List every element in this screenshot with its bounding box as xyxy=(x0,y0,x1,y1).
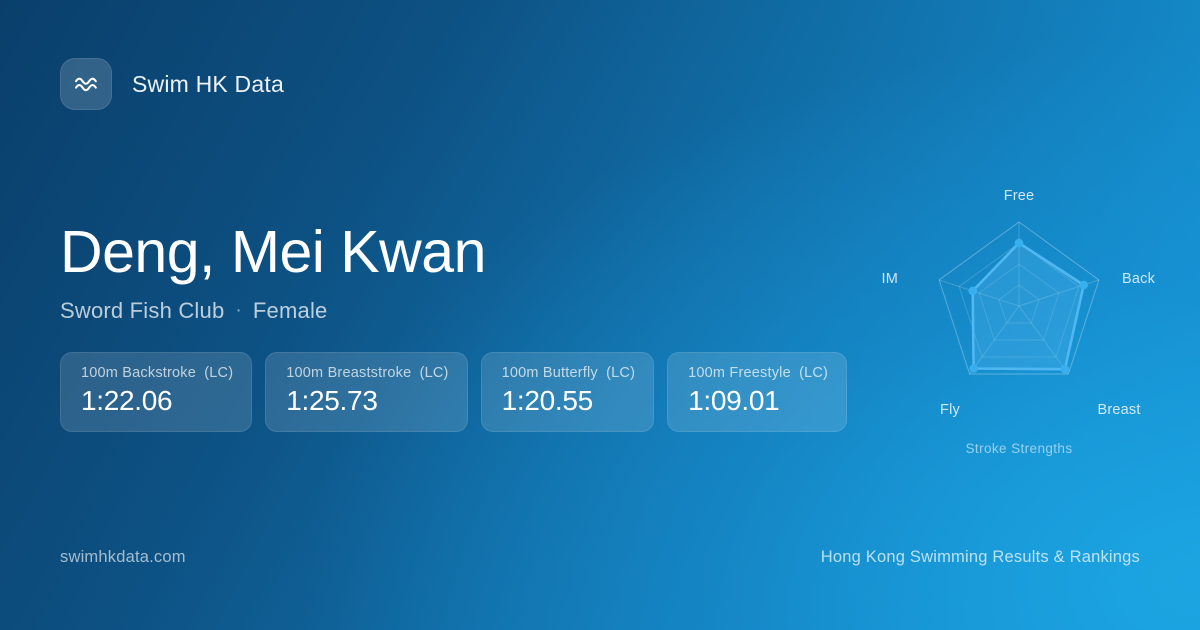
radar-point-fly xyxy=(969,364,978,373)
footer-tagline: Hong Kong Swimming Results & Rankings xyxy=(821,548,1140,567)
radar-label-free: Free xyxy=(1004,188,1035,204)
stat-card-label: 100m Backstroke (LC) xyxy=(81,365,233,381)
share-card: Swim HK Data Deng, Mei Kwan Sword Fish C… xyxy=(0,0,1200,630)
radar-label-fly: Fly xyxy=(940,402,960,418)
stat-card-time: 1:25.73 xyxy=(286,385,448,417)
stat-card: 100m Freestyle (LC) 1:09.01 xyxy=(667,352,847,432)
club-name: Sword Fish Club xyxy=(60,298,224,324)
wave-icon xyxy=(71,69,101,99)
stat-card-course: (LC) xyxy=(204,365,233,381)
brand-lockup: Swim HK Data xyxy=(60,58,284,110)
radar-point-free xyxy=(1015,239,1024,248)
stat-card-event: 100m Backstroke xyxy=(81,365,196,381)
gender-label: Female xyxy=(253,298,328,324)
stat-card-course: (LC) xyxy=(799,365,828,381)
stroke-strengths-radar-chart: Free Back Breast Fly IM Stroke Strengths xyxy=(869,166,1169,476)
best-times-card-row: 100m Backstroke (LC) 1:22.06 100m Breast… xyxy=(60,352,847,432)
stat-card: 100m Breaststroke (LC) 1:25.73 xyxy=(265,352,467,432)
hero-block: Deng, Mei Kwan Sword Fish Club · Female xyxy=(60,222,486,324)
radar-label-breast: Breast xyxy=(1097,402,1140,418)
stat-card-time: 1:22.06 xyxy=(81,385,233,417)
radar-label-im: IM xyxy=(881,271,898,287)
athlete-meta: Sword Fish Club · Female xyxy=(60,298,486,324)
stat-card: 100m Backstroke (LC) 1:22.06 xyxy=(60,352,252,432)
stat-card-event: 100m Breaststroke xyxy=(286,365,411,381)
radar-data-polygon xyxy=(973,243,1084,369)
stat-card-label: 100m Freestyle (LC) xyxy=(688,365,828,381)
radar-point-im xyxy=(968,287,977,296)
radar-svg xyxy=(869,166,1169,466)
stat-card-time: 1:09.01 xyxy=(688,385,828,417)
footer: swimhkdata.com Hong Kong Swimming Result… xyxy=(60,548,1140,567)
stat-card-event: 100m Freestyle xyxy=(688,365,791,381)
radar-caption: Stroke Strengths xyxy=(869,441,1169,456)
stat-card-course: (LC) xyxy=(606,365,635,381)
radar-point-back xyxy=(1079,281,1088,290)
footer-site-url: swimhkdata.com xyxy=(60,548,186,567)
stat-card-event: 100m Butterfly xyxy=(502,365,598,381)
meta-separator: · xyxy=(235,300,242,322)
stat-card-course: (LC) xyxy=(420,365,449,381)
app-logo-tile xyxy=(60,58,112,110)
stat-card-label: 100m Butterfly (LC) xyxy=(502,365,636,381)
page-title: Deng, Mei Kwan xyxy=(60,222,486,282)
stat-card-label: 100m Breaststroke (LC) xyxy=(286,365,448,381)
radar-label-back: Back xyxy=(1122,271,1155,287)
stat-card: 100m Butterfly (LC) 1:20.55 xyxy=(481,352,655,432)
brand-name: Swim HK Data xyxy=(132,71,284,98)
stat-card-time: 1:20.55 xyxy=(502,385,636,417)
radar-point-breast xyxy=(1061,365,1070,374)
